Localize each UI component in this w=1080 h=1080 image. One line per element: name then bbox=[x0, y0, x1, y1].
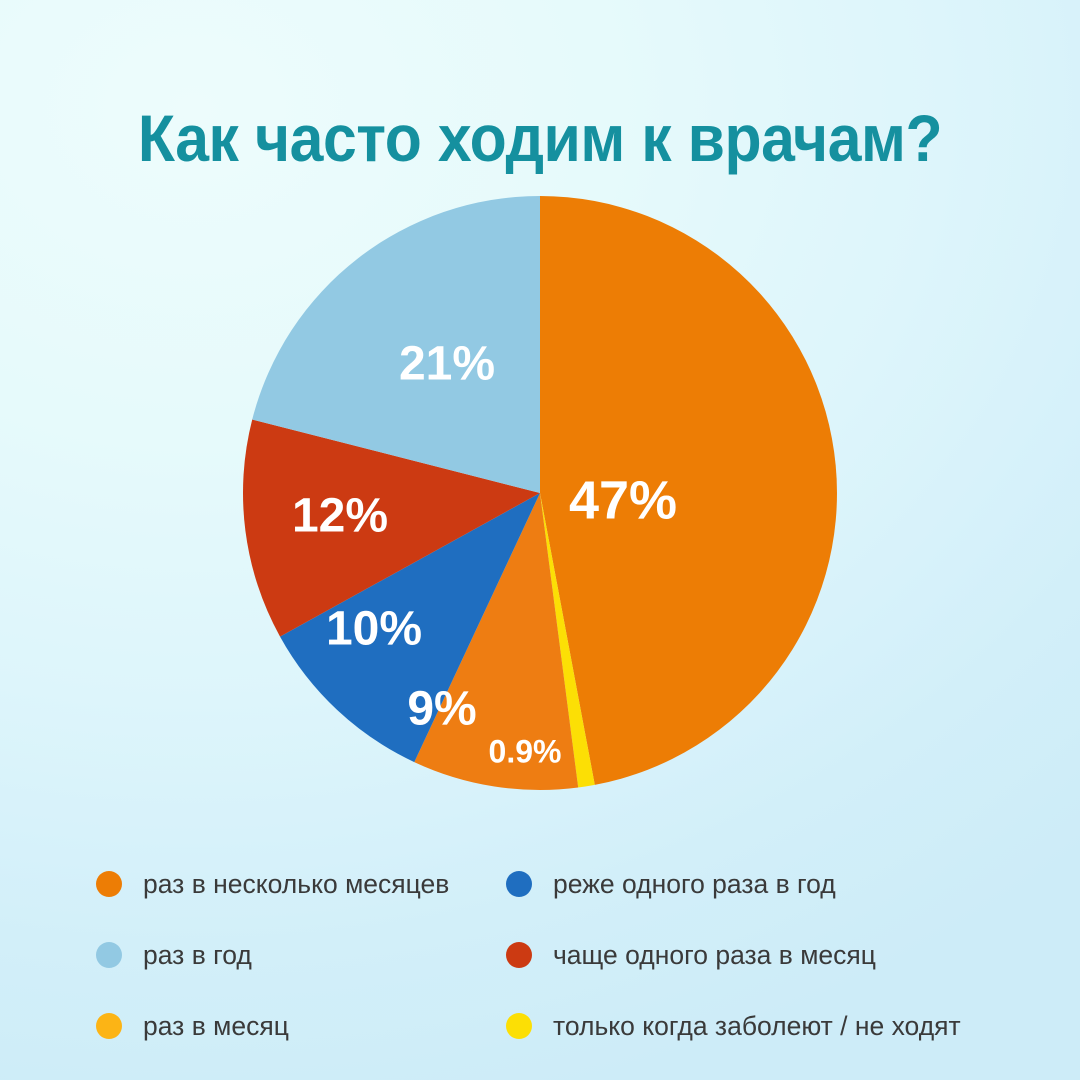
legend-item[interactable]: раз в месяц bbox=[96, 990, 506, 1061]
legend-color-swatch-icon bbox=[96, 871, 122, 897]
page-title: Как часто ходим к врачам? bbox=[43, 100, 1037, 176]
pie-chart-svg: 47%0.9%9%10%12%21% bbox=[243, 196, 837, 790]
pie-slice-label: 9% bbox=[407, 683, 476, 736]
legend-item-label: раз в месяц bbox=[143, 1011, 289, 1041]
legend-color-swatch-icon bbox=[506, 942, 532, 968]
legend-item[interactable]: чаще одного раза в месяц bbox=[506, 919, 1016, 990]
legend-item-label: раз в несколько месяцев bbox=[143, 869, 449, 899]
infographic-page: Как часто ходим к врачам? 47%0.9%9%10%12… bbox=[0, 0, 1080, 1080]
pie-slice-label: 10% bbox=[326, 603, 422, 656]
legend-color-swatch-icon bbox=[96, 942, 122, 968]
pie-slice-label: 12% bbox=[292, 490, 388, 543]
legend-color-swatch-icon bbox=[96, 1013, 122, 1039]
pie-slice-label: 21% bbox=[399, 338, 495, 391]
legend-item[interactable]: только когда заболеют / не ходят bbox=[506, 990, 1016, 1061]
chart-legend: раз в несколько месяцевреже одного раза … bbox=[96, 848, 1016, 1061]
legend-item-label: раз в год bbox=[143, 940, 252, 970]
pie-slice-label: 0.9% bbox=[489, 733, 562, 769]
legend-color-swatch-icon bbox=[506, 871, 532, 897]
legend-item[interactable]: раз в несколько месяцев bbox=[96, 848, 506, 919]
pie-chart: 47%0.9%9%10%12%21% bbox=[243, 196, 837, 790]
legend-item-label: реже одного раза в год bbox=[553, 869, 836, 899]
legend-item-label: только когда заболеют / не ходят bbox=[553, 1011, 961, 1041]
pie-slice-label: 47% bbox=[569, 470, 677, 530]
legend-item-label: чаще одного раза в месяц bbox=[553, 940, 876, 970]
legend-item[interactable]: раз в год bbox=[96, 919, 506, 990]
legend-color-swatch-icon bbox=[506, 1013, 532, 1039]
legend-item[interactable]: реже одного раза в год bbox=[506, 848, 1016, 919]
